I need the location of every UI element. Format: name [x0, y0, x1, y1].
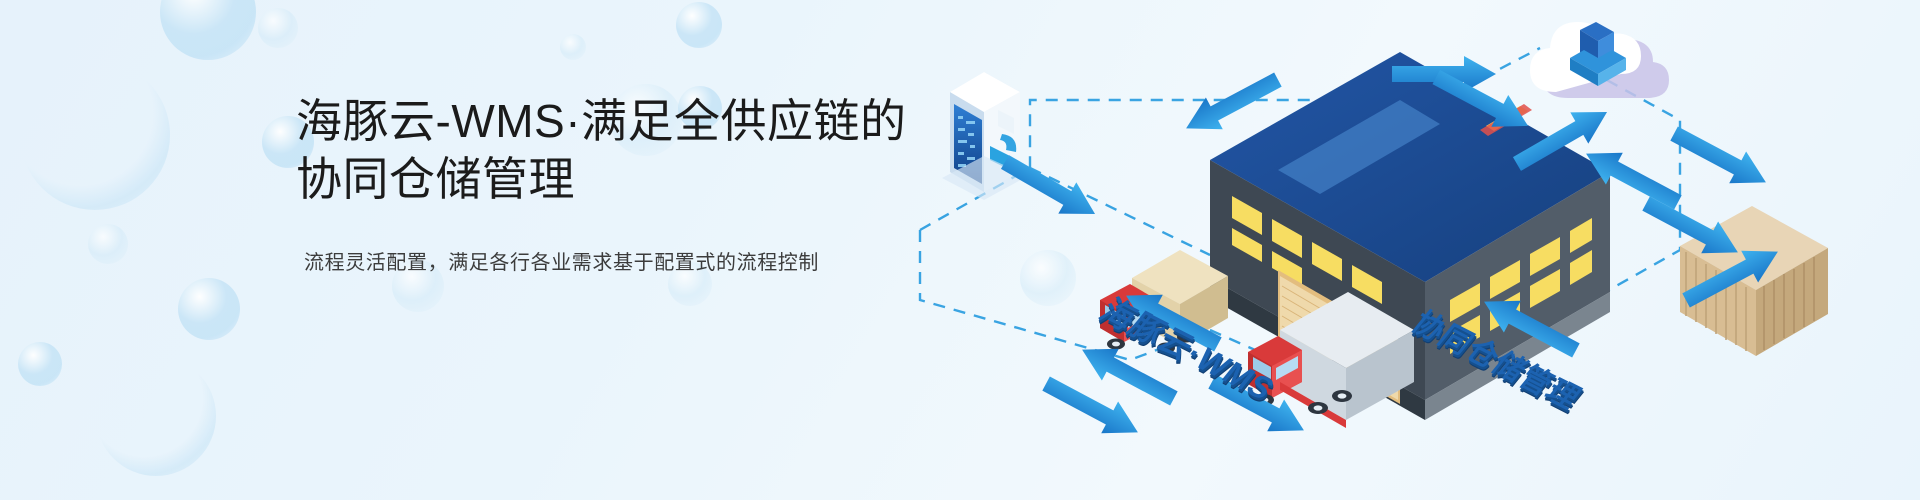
- hero-subtitle: 流程灵活配置，满足各行各业需求基于配置式的流程控制: [304, 248, 916, 278]
- server-rack: [942, 72, 1028, 200]
- bubble-decoration: [20, 60, 170, 210]
- hero-banner: 海豚云-WMS·满足全供应链的 协同仓储管理 流程灵活配置，满足各行各业需求基于…: [0, 0, 1920, 500]
- bubble-decoration: [258, 8, 298, 48]
- hero-copy: 海豚云-WMS·满足全供应链的 协同仓储管理 流程灵活配置，满足各行各业需求基于…: [296, 92, 916, 278]
- cloud-upload: [1530, 22, 1669, 98]
- bubble-decoration: [160, 0, 256, 60]
- bubble-decoration: [178, 278, 240, 340]
- hero-headline: 海豚云-WMS·满足全供应链的 协同仓储管理: [296, 92, 916, 208]
- bubble-decoration: [676, 2, 722, 48]
- bubble-decoration: [18, 342, 62, 386]
- bubble-decoration: [560, 34, 586, 60]
- bubble-decoration: [96, 356, 216, 476]
- bubble-decoration: [88, 224, 128, 264]
- hero-illustration: 海豚云·WMS 协同仓储管理: [880, 0, 1920, 500]
